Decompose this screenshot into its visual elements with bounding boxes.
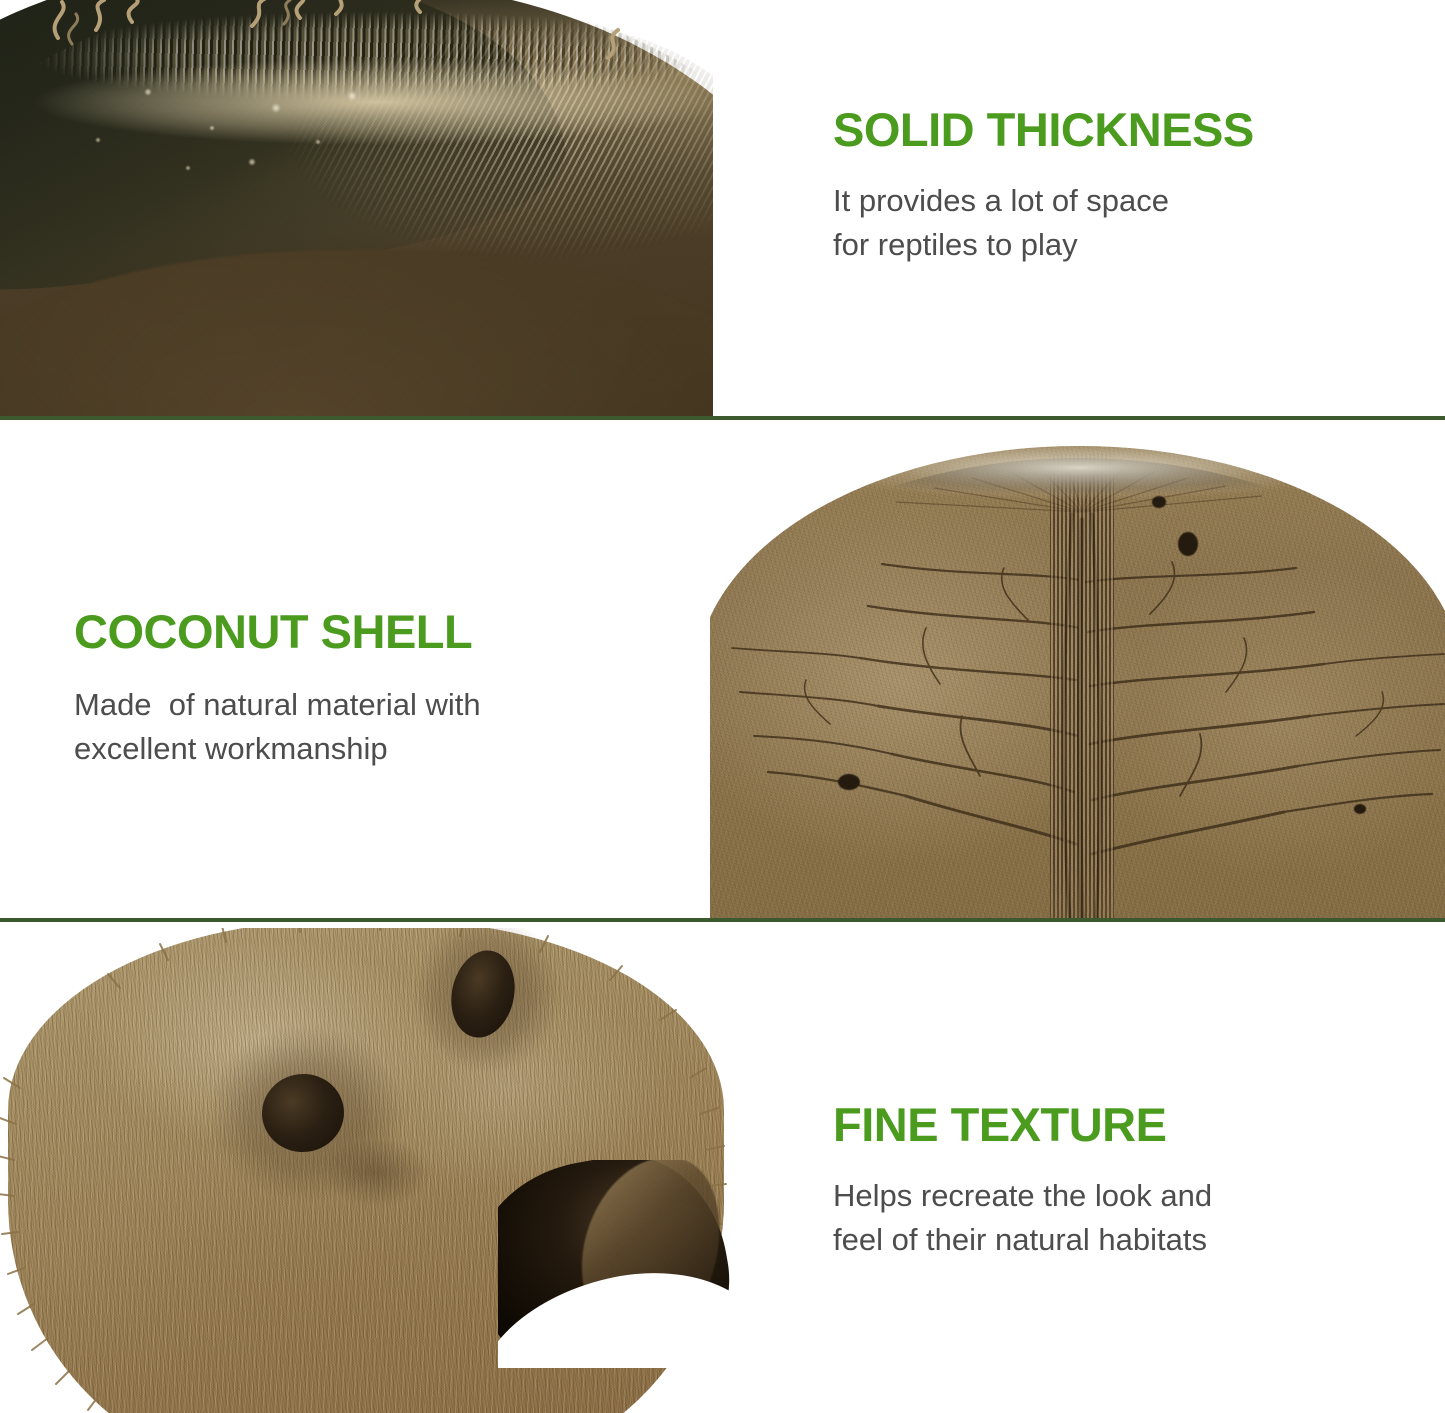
feature-desc-line-2: excellent workmanship <box>74 727 481 771</box>
feature-desc-line-2: feel of their natural habitats <box>833 1218 1212 1262</box>
carved-entrance-hole <box>498 1160 735 1368</box>
feature-text-coconut-shell: COCONUT SHELL Made of natural material w… <box>74 608 481 771</box>
feature-heading-coconut-shell: COCONUT SHELL <box>74 608 481 655</box>
feature-heading-fine-texture: FINE TEXTURE <box>833 1101 1212 1148</box>
feature-heading-solid-thickness: SOLID THICKNESS <box>833 106 1254 153</box>
feature-row-fine-texture: FINE TEXTURE Helps recreate the look and… <box>0 924 1445 1413</box>
product-feature-infographic: SOLID THICKNESS It provides a lot of spa… <box>0 0 1445 1413</box>
feature-text-fine-texture: FINE TEXTURE Helps recreate the look and… <box>833 1101 1212 1262</box>
feature-desc-line-1: Helps recreate the look and <box>833 1174 1212 1218</box>
feature-row-coconut-shell: COCONUT SHELL Made of natural material w… <box>0 424 1445 920</box>
feature-desc-line-1: Made of natural material with <box>74 683 481 727</box>
eye-smudge-small <box>322 1138 432 1208</box>
coconut-shell-exterior-photo <box>0 928 735 1413</box>
row-divider-bottom <box>0 918 1445 922</box>
row-divider-top <box>0 416 1445 420</box>
feature-desc-line-1: It provides a lot of space <box>833 179 1254 223</box>
sprouting-fibers-group <box>0 0 713 180</box>
feature-desc-line-2: for reptiles to play <box>833 223 1254 267</box>
coconut-shell-interior-photo <box>710 424 1445 920</box>
feature-text-solid-thickness: SOLID THICKNESS It provides a lot of spa… <box>833 106 1254 267</box>
feature-row-solid-thickness: SOLID THICKNESS It provides a lot of spa… <box>0 0 1445 420</box>
rim-highlight-line <box>710 446 1445 920</box>
coconut-shell-cross-section-photo <box>0 0 713 416</box>
